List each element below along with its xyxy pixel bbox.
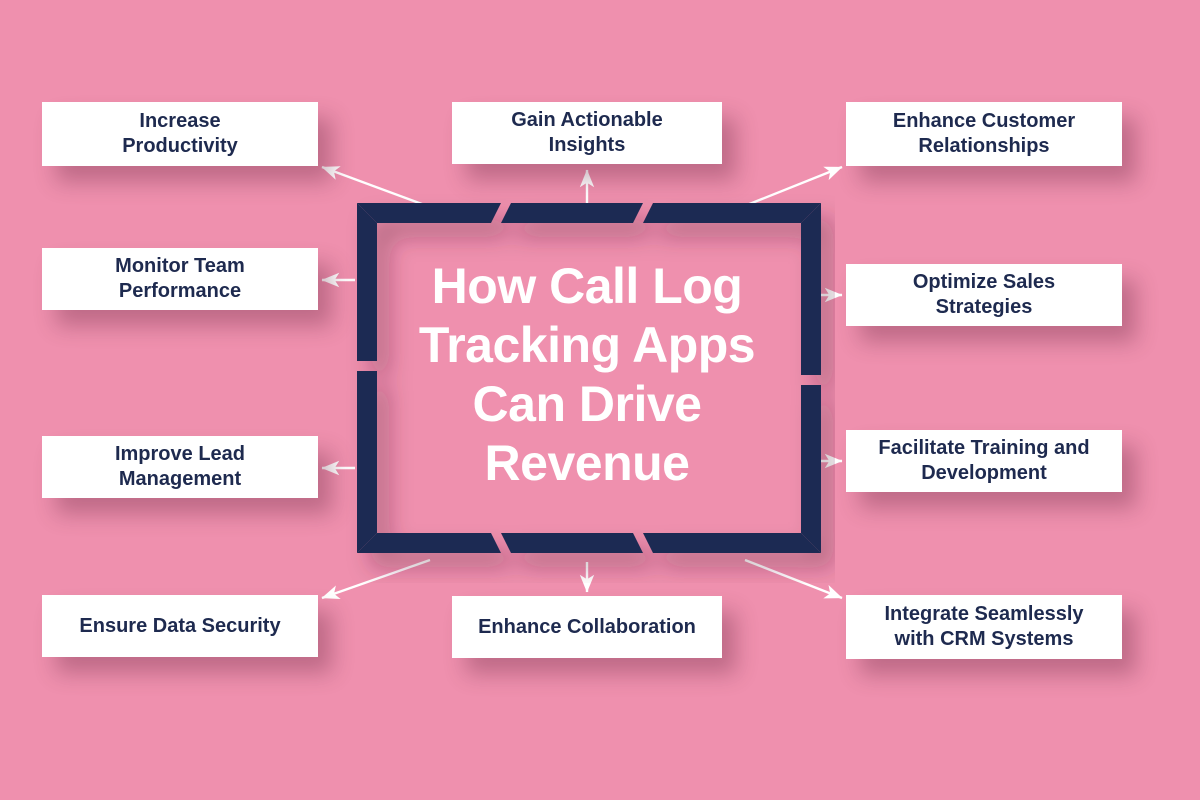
center-title: How Call Log Tracking Apps Can Drive Rev… bbox=[397, 257, 777, 493]
node-facilitate-training-and-development[interactable]: Facilitate Training and Development bbox=[846, 430, 1122, 492]
central-frame: How Call Log Tracking Apps Can Drive Rev… bbox=[357, 203, 817, 561]
node-improve-lead-management[interactable]: Improve Lead Management bbox=[42, 436, 318, 498]
frame-segment-right-lower bbox=[801, 385, 821, 553]
node-label: Optimize Sales Strategies bbox=[856, 270, 1112, 320]
node-label: Increase Productivity bbox=[52, 109, 308, 159]
node-label: Facilitate Training and Development bbox=[856, 436, 1112, 486]
node-monitor-team-performance[interactable]: Monitor Team Performance bbox=[42, 248, 318, 310]
frame-segment-left-upper bbox=[357, 203, 377, 361]
frame-segment-top-center bbox=[501, 203, 643, 223]
node-label: Integrate Seamlessly with CRM Systems bbox=[856, 602, 1112, 652]
infographic-canvas: How Call Log Tracking Apps Can Drive Rev… bbox=[0, 0, 1200, 800]
node-label: Improve Lead Management bbox=[52, 442, 308, 492]
frame-segment-bottom-left bbox=[357, 533, 501, 553]
node-gain-actionable-insights[interactable]: Gain Actionable Insights bbox=[452, 102, 722, 164]
frame-segment-top-right bbox=[643, 203, 821, 223]
node-label: Gain Actionable Insights bbox=[462, 108, 712, 158]
node-label: Enhance Collaboration bbox=[462, 615, 712, 640]
node-increase-productivity[interactable]: Increase Productivity bbox=[42, 102, 318, 166]
node-label: Monitor Team Performance bbox=[52, 254, 308, 304]
node-label: Enhance Customer Relationships bbox=[856, 109, 1112, 159]
node-integrate-seamlessly-with-crm-systems[interactable]: Integrate Seamlessly with CRM Systems bbox=[846, 595, 1122, 659]
node-optimize-sales-strategies[interactable]: Optimize Sales Strategies bbox=[846, 264, 1122, 326]
node-ensure-data-security[interactable]: Ensure Data Security bbox=[42, 595, 318, 657]
node-enhance-collaboration[interactable]: Enhance Collaboration bbox=[452, 596, 722, 658]
frame-segment-bottom-right bbox=[643, 533, 821, 553]
node-label: Ensure Data Security bbox=[52, 614, 308, 639]
frame-segment-top-left bbox=[357, 203, 501, 223]
frame-segment-bottom-center bbox=[501, 533, 643, 553]
frame-segment-right-upper bbox=[801, 203, 821, 375]
frame-segment-left-lower bbox=[357, 371, 377, 553]
node-enhance-customer-relationships[interactable]: Enhance Customer Relationships bbox=[846, 102, 1122, 166]
